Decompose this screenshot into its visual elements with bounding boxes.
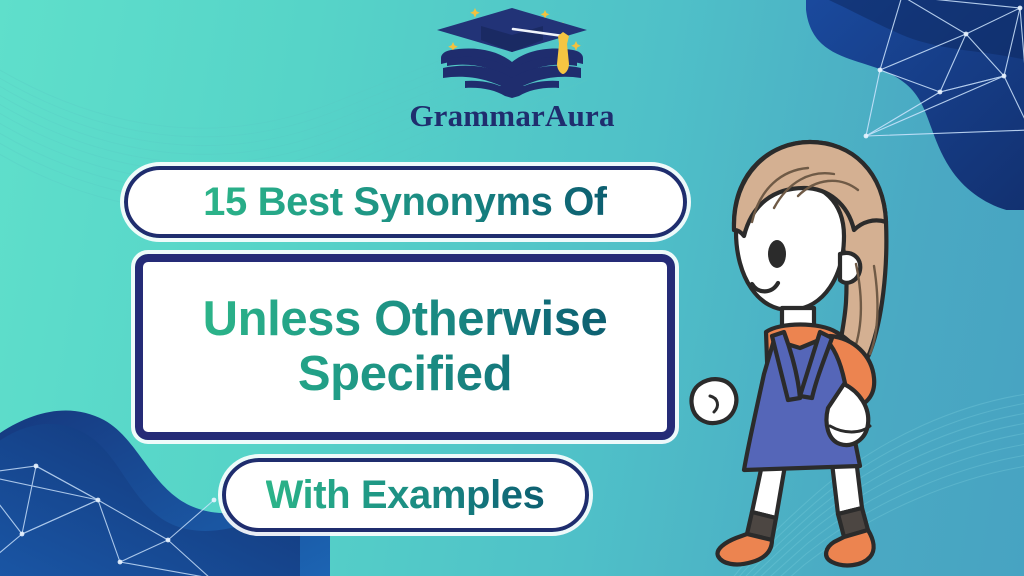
brand-name: GrammarAura xyxy=(409,100,614,131)
footer-pill: With Examples xyxy=(222,458,589,532)
eye xyxy=(768,240,786,268)
headline-line-2: Specified xyxy=(203,347,608,402)
headline-text: Unless Otherwise Specified xyxy=(203,292,608,402)
headline-panel: Unless Otherwise Specified xyxy=(135,254,675,440)
eyebrow-text: 15 Best Synonyms Of xyxy=(203,182,607,222)
walking-girl-illustration xyxy=(648,126,948,576)
left-hand xyxy=(691,379,736,423)
eyebrow-pill: 15 Best Synonyms Of xyxy=(124,166,687,238)
graduation-cap-and-open-book-icon xyxy=(417,2,607,98)
brand-logo-block: GrammarAura xyxy=(0,2,1024,131)
footer-text: With Examples xyxy=(266,475,545,515)
headline-line-1: Unless Otherwise xyxy=(203,292,608,347)
title-card-canvas: GrammarAura 15 Best Synonyms Of Unless O… xyxy=(0,0,1024,576)
